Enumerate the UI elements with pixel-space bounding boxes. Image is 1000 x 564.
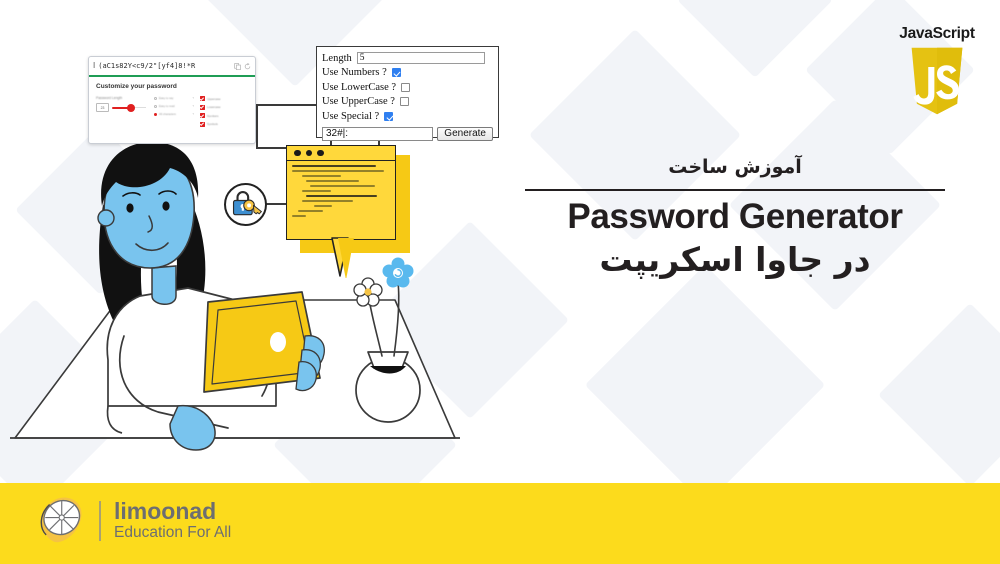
generated-password-text: (aC1s82Y<c9/2"[yf4]8!*R <box>98 62 231 70</box>
strength-option-group[interactable]: Easy to say ? Easy to read ? All charact… <box>154 96 194 120</box>
form-row-uppercase: Use UpperCase ? <box>322 95 493 110</box>
password-generator-form[interactable]: Length 5 Use Numbers ? Use LowerCase ? U… <box>316 46 499 138</box>
brand-name: limoonad <box>114 499 231 524</box>
checkbox-lowercase[interactable]: Lowercase <box>200 105 240 110</box>
speech-bubble-tail <box>286 236 396 278</box>
connector-line <box>256 104 258 148</box>
checkbox-symbols[interactable]: Symbols <box>200 122 240 127</box>
use-uppercase-checkbox[interactable] <box>400 97 409 106</box>
window-dot-icon <box>306 150 313 157</box>
use-lowercase-checkbox[interactable] <box>401 83 410 92</box>
brand-lockup[interactable]: limoonad Education For All <box>34 495 231 547</box>
brand-divider <box>99 501 101 541</box>
customize-title: Customize your password <box>96 83 248 90</box>
code-editor-window <box>286 145 396 240</box>
radio-easy-to-say[interactable]: Easy to say ? <box>154 96 194 100</box>
code-window-titlebar <box>287 146 395 161</box>
form-row-numbers: Use Numbers ? <box>322 66 493 81</box>
generate-button[interactable]: Generate <box>437 127 493 141</box>
password-card-header: I (aC1s82Y<c9/2"[yf4]8!*R <box>89 57 255 77</box>
help-icon[interactable]: ? <box>192 96 194 100</box>
help-icon[interactable]: ? <box>192 112 194 116</box>
code-lines <box>287 161 395 224</box>
length-input[interactable]: 5 <box>357 52 485 64</box>
footer-bar: limoonad Education For All <box>0 483 1000 564</box>
kicker-text: آموزش ساخت <box>500 155 970 181</box>
headline-divider <box>525 189 945 191</box>
use-special-checkbox[interactable] <box>384 112 393 121</box>
form-row-special: Use Special ? <box>322 109 493 124</box>
password-output-field[interactable]: 32#|: <box>322 127 433 141</box>
length-label: Length <box>322 53 352 64</box>
lemon-slice-icon <box>34 495 86 547</box>
form-row-output: 32#|: Generate <box>322 127 493 141</box>
checkbox-uppercase[interactable]: Uppercase <box>200 96 240 101</box>
use-special-label: Use Special ? <box>322 111 379 122</box>
javascript-logo: JavaScript <box>893 25 981 121</box>
javascript-shield-icon <box>906 46 968 116</box>
refresh-icon[interactable] <box>244 63 251 70</box>
use-lowercase-label: Use LowerCase ? <box>322 82 396 93</box>
use-numbers-checkbox[interactable] <box>392 68 401 77</box>
padlock-key-badge <box>224 183 267 226</box>
javascript-wordmark: JavaScript <box>893 25 981 43</box>
window-dot-icon <box>294 150 301 157</box>
copy-icon[interactable] <box>234 63 241 70</box>
use-uppercase-label: Use UpperCase ? <box>322 96 395 107</box>
text-cursor-icon: I <box>93 62 95 70</box>
headline-block: آموزش ساخت Password Generator در جاوا اس… <box>500 155 970 282</box>
brand-tagline: Education For All <box>114 524 231 543</box>
checkbox-numbers[interactable]: Numbers <box>200 113 240 118</box>
help-icon[interactable]: ? <box>192 104 194 108</box>
connector-line <box>256 104 318 106</box>
charset-checkbox-group[interactable]: Uppercase Lowercase Numbers Symbols <box>200 96 240 130</box>
title-english: Password Generator <box>500 197 970 237</box>
password-length-slider[interactable] <box>112 103 146 112</box>
thumbnail-canvas: I (aC1s82Y<c9/2"[yf4]8!*R Customize your… <box>0 0 1000 564</box>
form-row-lowercase: Use LowerCase ? <box>322 80 493 95</box>
password-length-label: Password Length <box>96 96 148 100</box>
radio-easy-to-read[interactable]: Easy to read ? <box>154 104 194 108</box>
use-numbers-label: Use Numbers ? <box>322 67 387 78</box>
password-length-value[interactable]: 23 <box>96 103 109 112</box>
form-row-length: Length 5 <box>322 51 493 66</box>
radio-all-characters[interactable]: All characters ? <box>154 112 194 116</box>
window-dot-icon <box>317 150 324 157</box>
password-preview-card[interactable]: I (aC1s82Y<c9/2"[yf4]8!*R Customize your… <box>88 56 256 144</box>
title-persian: در جاوا اسکریپت <box>500 239 970 282</box>
